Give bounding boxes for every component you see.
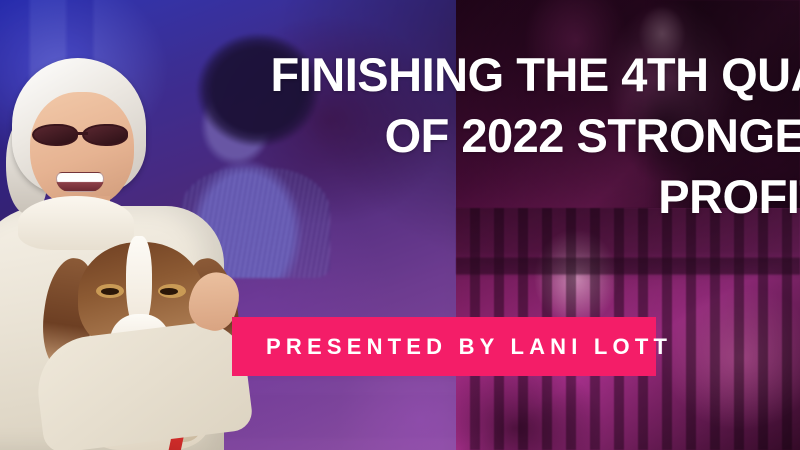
headline-line-1: FINISHING THE 4TH QUARTER	[150, 44, 800, 105]
promo-banner-slide: FINISHING THE 4TH QUARTER OF 2022 STRONG…	[0, 0, 800, 450]
dog-left-eye	[101, 288, 119, 295]
headline-line-3: PROFITABLE	[150, 166, 800, 227]
presenter-smile	[56, 172, 104, 192]
presenter-credit-text: PRESENTED BY LANI LOTT	[232, 334, 672, 360]
sunglasses-left-lens	[32, 124, 78, 146]
sunglasses-right-lens	[82, 124, 128, 146]
sunglasses-icon	[30, 122, 134, 148]
headline-line-2: OF 2022 STRONGER AND	[150, 105, 800, 166]
presenter-credit-bar: PRESENTED BY LANI LOTT	[232, 317, 656, 376]
slide-headline: FINISHING THE 4TH QUARTER OF 2022 STRONG…	[150, 44, 800, 227]
sunglasses-bridge	[76, 132, 88, 135]
dog-right-eye	[160, 288, 178, 295]
